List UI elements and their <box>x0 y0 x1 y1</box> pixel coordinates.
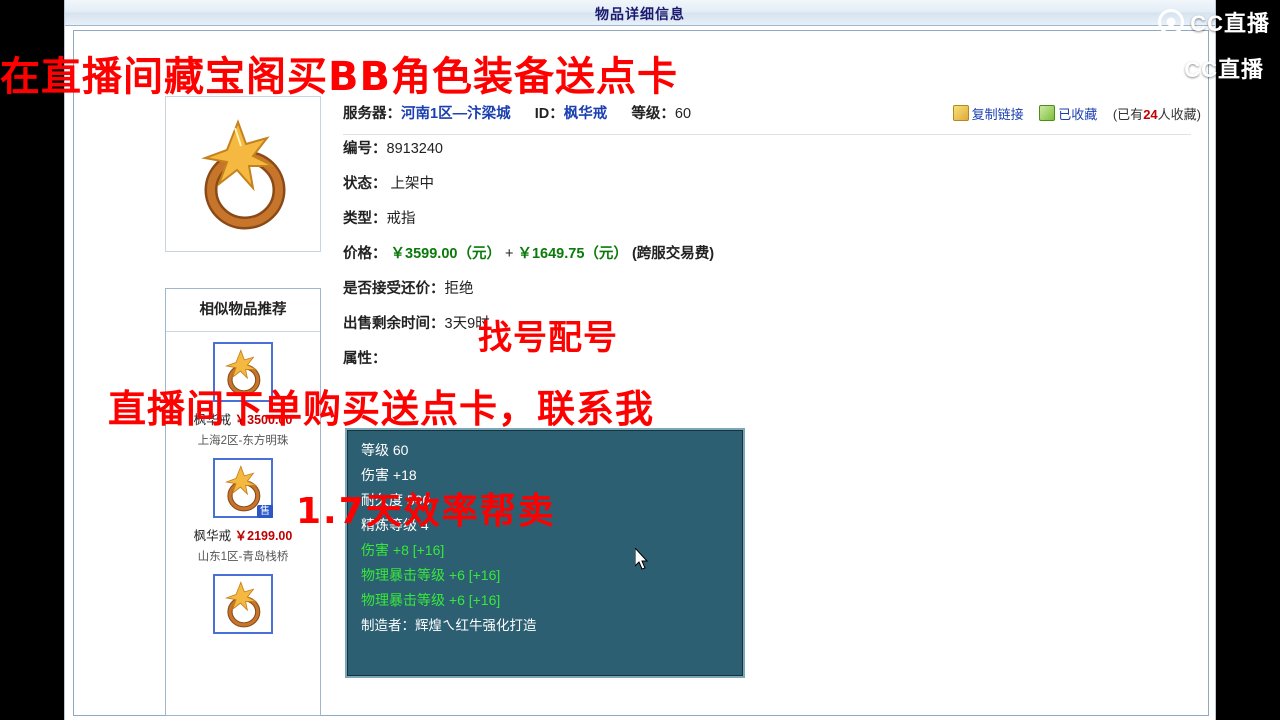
favorite-label: 已收藏 <box>1058 107 1097 122</box>
attr-line-5: 物理暴击等级 +6 [+16] <box>361 563 729 588</box>
copy-link-label: 复制链接 <box>972 107 1024 122</box>
item-actions: 复制链接 已收藏 (已有24人收藏) <box>941 104 1201 123</box>
attr-maker: 制造者：辉煌ㄟ红牛强化打造 <box>361 613 729 638</box>
similar-item-thumbnail[interactable] <box>213 574 273 634</box>
attribute-tooltip: 等级 60 伤害 +18 耐久度 500 精炼等级 4 伤害 +8 [+16] … <box>345 428 745 678</box>
watermark-secondary: CC直播 <box>1152 52 1264 84</box>
attr-line-0: 等级 60 <box>361 438 729 463</box>
type-label: 类型： <box>343 211 387 227</box>
cc-logo-icon <box>1158 9 1184 35</box>
overlay-text-efficiency: 1.7天效率帮卖 <box>296 482 556 534</box>
watermark-top: CC直播 <box>1158 6 1270 38</box>
link-icon <box>953 105 969 121</box>
level-value: 60 <box>675 106 691 122</box>
fav-suffix: 人收藏) <box>1158 107 1201 122</box>
price-fee: ￥1649.75（元） <box>517 246 627 262</box>
overlay-text-promo-main: 在直播间藏宝阁买BB角色装备送点卡 <box>0 44 678 102</box>
watermark-text: CC直播 <box>1190 6 1270 38</box>
watermark-text: CC直播 <box>1184 52 1264 84</box>
similar-item-server: 山东1区-青岛栈桥 <box>166 548 320 564</box>
copy-link-button[interactable]: 复制链接 <box>953 104 1024 123</box>
browser-page: 物品详细信息 服务器：河南1区—汴梁城 ID：枫华戒 等级：60 编号：8913… <box>64 0 1216 720</box>
similar-item-price: ￥2199.00 <box>235 529 293 543</box>
status-label: 状态： <box>343 176 387 192</box>
price-label: 价格： <box>343 246 387 262</box>
cc-logo-icon <box>1152 55 1178 81</box>
favorite-button[interactable]: 已收藏 <box>1039 104 1097 123</box>
status-value: 上架中 <box>391 176 435 192</box>
detail-row-number: 编号：8913240 <box>343 139 963 159</box>
price-fee-note: (跨服交易费) <box>632 246 714 262</box>
attr-line-6: 物理暴击等级 +6 [+16] <box>361 588 729 613</box>
overlay-text-promo-contact: 直播间下单购买送点卡，联系我 <box>108 378 654 433</box>
id-label: ID： <box>535 106 564 122</box>
overlay-text-account-matching: 找号配号 <box>478 310 618 359</box>
detail-row-bargain: 是否接受还价：拒绝 <box>343 279 963 299</box>
detail-row-status: 状态： 上架中 <box>343 174 963 194</box>
detail-row-attributes: 属性： <box>343 349 963 369</box>
remaining-label: 出售剩余时间： <box>343 316 445 332</box>
fav-count: 24 <box>1143 107 1157 122</box>
similar-item-2[interactable] <box>166 564 320 634</box>
server-value: 河南1区—汴梁城 <box>401 106 511 122</box>
detail-row-price: 价格： ￥3599.00（元） + ￥1649.75（元） (跨服交易费) <box>343 244 963 264</box>
window-title: 物品详细信息 <box>65 4 1215 24</box>
id-value: 枫华戒 <box>564 106 608 122</box>
similar-item-name: 枫华戒 <box>194 529 232 543</box>
fav-prefix: (已有 <box>1113 107 1143 122</box>
number-label: 编号： <box>343 141 387 157</box>
type-value: 戒指 <box>387 211 416 227</box>
level-label: 等级： <box>631 106 675 122</box>
header-divider <box>343 134 1191 135</box>
detail-row-type: 类型：戒指 <box>343 209 963 229</box>
ring-icon <box>183 114 303 234</box>
bargain-value: 拒绝 <box>445 281 474 297</box>
item-info-block: 服务器：河南1区—汴梁城 ID：枫华戒 等级：60 编号：8913240 状态：… <box>343 104 963 384</box>
price-plus: + <box>505 246 513 262</box>
sold-badge: 售 <box>257 505 273 518</box>
similar-items-title: 相似物品推荐 <box>166 289 320 332</box>
server-label: 服务器： <box>343 106 401 122</box>
similar-item-server: 上海2区-东方明珠 <box>166 432 320 448</box>
attr-line-4: 伤害 +8 [+16] <box>361 538 729 563</box>
favorite-icon <box>1039 105 1055 121</box>
price-main: ￥3599.00（元） <box>391 246 501 262</box>
header-row: 服务器：河南1区—汴梁城 ID：枫华戒 等级：60 <box>343 104 963 124</box>
bargain-label: 是否接受还价： <box>343 281 445 297</box>
ring-icon <box>217 578 269 630</box>
window-titlebar: 物品详细信息 <box>65 0 1215 26</box>
favorite-count: (已有24人收藏) <box>1113 104 1201 123</box>
item-thumbnail[interactable] <box>165 96 321 252</box>
detail-row-remaining: 出售剩余时间：3天9时 <box>343 314 963 334</box>
mouse-cursor <box>635 548 651 572</box>
similar-item-thumbnail[interactable]: 售 <box>213 458 273 518</box>
attributes-label: 属性： <box>343 351 387 367</box>
number-value: 8913240 <box>387 141 443 157</box>
